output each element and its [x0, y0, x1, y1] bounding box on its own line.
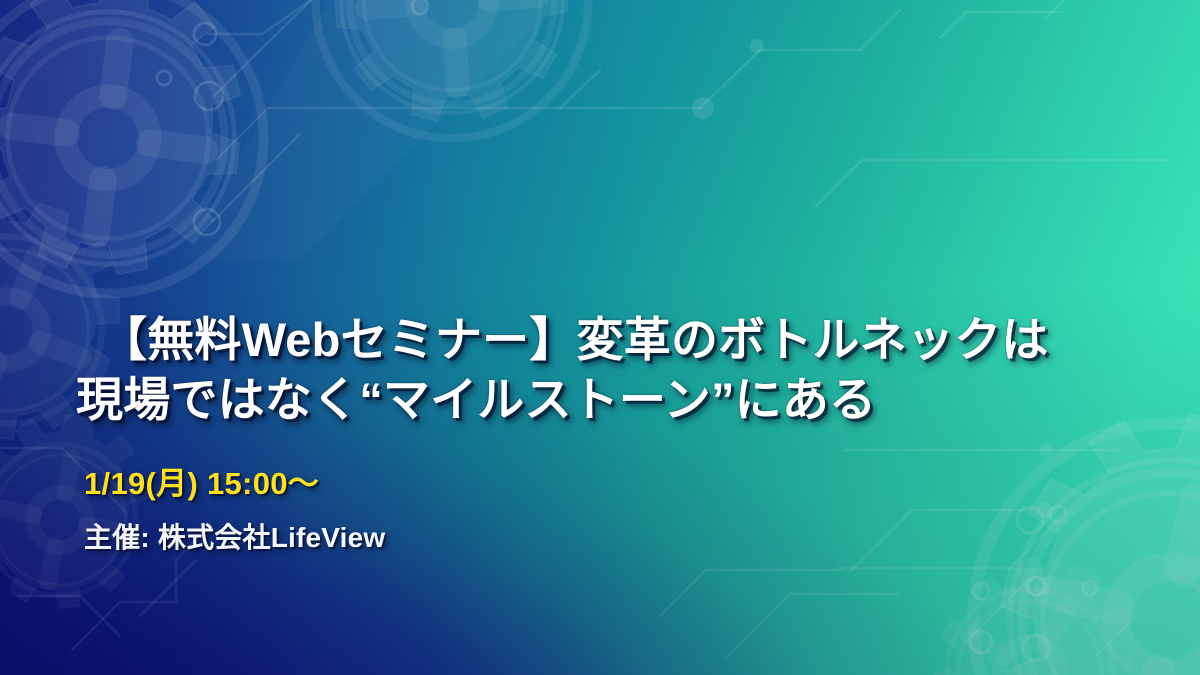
event-host: 主催: 株式会社LifeView — [84, 516, 385, 556]
title-line-1: 【無料Webセミナー】変革のボトルネックは — [76, 310, 1176, 370]
title-line-2: 現場ではなく“マイルストーン”にある — [76, 370, 1176, 430]
event-datetime: 1/19(月) 15:00〜 — [84, 458, 319, 503]
banner-content: 【無料Webセミナー】変革のボトルネックは 現場ではなく“マイルストーン”にある… — [0, 0, 1200, 675]
webinar-banner: 【無料Webセミナー】変革のボトルネックは 現場ではなく“マイルストーン”にある… — [0, 0, 1200, 675]
page-title: 【無料Webセミナー】変革のボトルネックは 現場ではなく“マイルストーン”にある — [76, 310, 1176, 430]
